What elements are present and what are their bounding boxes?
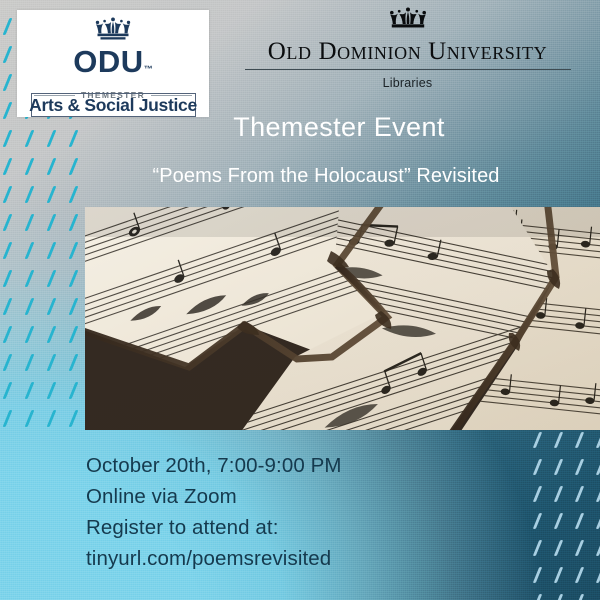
slash-mark bbox=[575, 459, 584, 475]
register-prompt: Register to attend at: bbox=[86, 512, 506, 543]
slash-mark bbox=[69, 214, 79, 231]
university-name: Old Dominion University bbox=[268, 38, 547, 66]
slash-mark bbox=[554, 432, 563, 448]
event-date-time: October 20th, 7:00-9:00 PM bbox=[86, 450, 506, 481]
trademark-symbol: ™ bbox=[144, 64, 153, 74]
event-details: October 20th, 7:00-9:00 PM Online via Zo… bbox=[86, 450, 506, 574]
slash-mark bbox=[25, 298, 35, 315]
slash-mark bbox=[47, 214, 57, 231]
slash-mark bbox=[25, 242, 35, 259]
slash-mark bbox=[69, 354, 79, 371]
odu-libraries-header: Old Dominion University Libraries bbox=[215, 6, 600, 90]
crown-icon bbox=[385, 6, 431, 37]
slash-mark bbox=[575, 540, 584, 556]
slash-mark bbox=[596, 432, 600, 448]
slash-mark bbox=[47, 354, 57, 371]
slash-mark bbox=[25, 326, 35, 343]
slash-mark bbox=[554, 567, 563, 583]
slash-mark bbox=[25, 214, 35, 231]
decorative-slash-pattern-right bbox=[536, 432, 600, 600]
slash-mark bbox=[596, 594, 600, 600]
slash-mark bbox=[596, 486, 600, 502]
odu-themester-logo-card: ODU™ THEMESTER Arts & Social Justice bbox=[17, 10, 209, 117]
crown-icon bbox=[91, 17, 135, 45]
slash-mark bbox=[554, 486, 563, 502]
slash-mark bbox=[25, 186, 35, 203]
event-kicker: Themester Event bbox=[0, 112, 600, 143]
slash-mark bbox=[575, 594, 584, 600]
slash-mark bbox=[47, 270, 57, 287]
slash-mark bbox=[69, 410, 79, 427]
event-poster: ODU™ THEMESTER Arts & Social Justice bbox=[0, 0, 600, 600]
event-title: “Poems From the Holocaust” Revisited bbox=[0, 165, 600, 188]
slash-mark bbox=[575, 513, 584, 529]
odu-wordmark: ODU™ bbox=[73, 46, 152, 85]
slash-mark bbox=[25, 410, 35, 427]
slash-mark bbox=[596, 459, 600, 475]
slash-mark bbox=[25, 354, 35, 371]
slash-mark bbox=[575, 567, 584, 583]
event-platform: Online via Zoom bbox=[86, 481, 506, 512]
slash-mark bbox=[69, 270, 79, 287]
burnt-sheet-music-photo bbox=[85, 207, 600, 430]
unit-name: Libraries bbox=[383, 76, 433, 90]
slash-mark bbox=[69, 186, 79, 203]
slash-mark bbox=[69, 382, 79, 399]
slash-mark bbox=[25, 270, 35, 287]
slash-mark bbox=[596, 540, 600, 556]
slash-mark bbox=[554, 459, 563, 475]
slash-mark bbox=[69, 242, 79, 259]
slash-mark bbox=[554, 540, 563, 556]
slash-mark bbox=[25, 382, 35, 399]
slash-mark bbox=[575, 486, 584, 502]
slash-mark bbox=[596, 567, 600, 583]
slash-mark bbox=[47, 410, 57, 427]
slash-mark bbox=[47, 326, 57, 343]
header-divider bbox=[245, 69, 571, 70]
slash-mark bbox=[47, 298, 57, 315]
odu-wordmark-text: ODU bbox=[73, 44, 143, 79]
slash-mark bbox=[47, 186, 57, 203]
slash-mark bbox=[554, 594, 563, 600]
slash-mark bbox=[47, 242, 57, 259]
slash-mark bbox=[575, 432, 584, 448]
slash-mark bbox=[69, 298, 79, 315]
slash-mark bbox=[554, 513, 563, 529]
slash-mark bbox=[69, 326, 79, 343]
register-url[interactable]: tinyurl.com/poemsrevisited bbox=[86, 543, 506, 574]
slash-mark bbox=[47, 382, 57, 399]
slash-mark bbox=[596, 513, 600, 529]
